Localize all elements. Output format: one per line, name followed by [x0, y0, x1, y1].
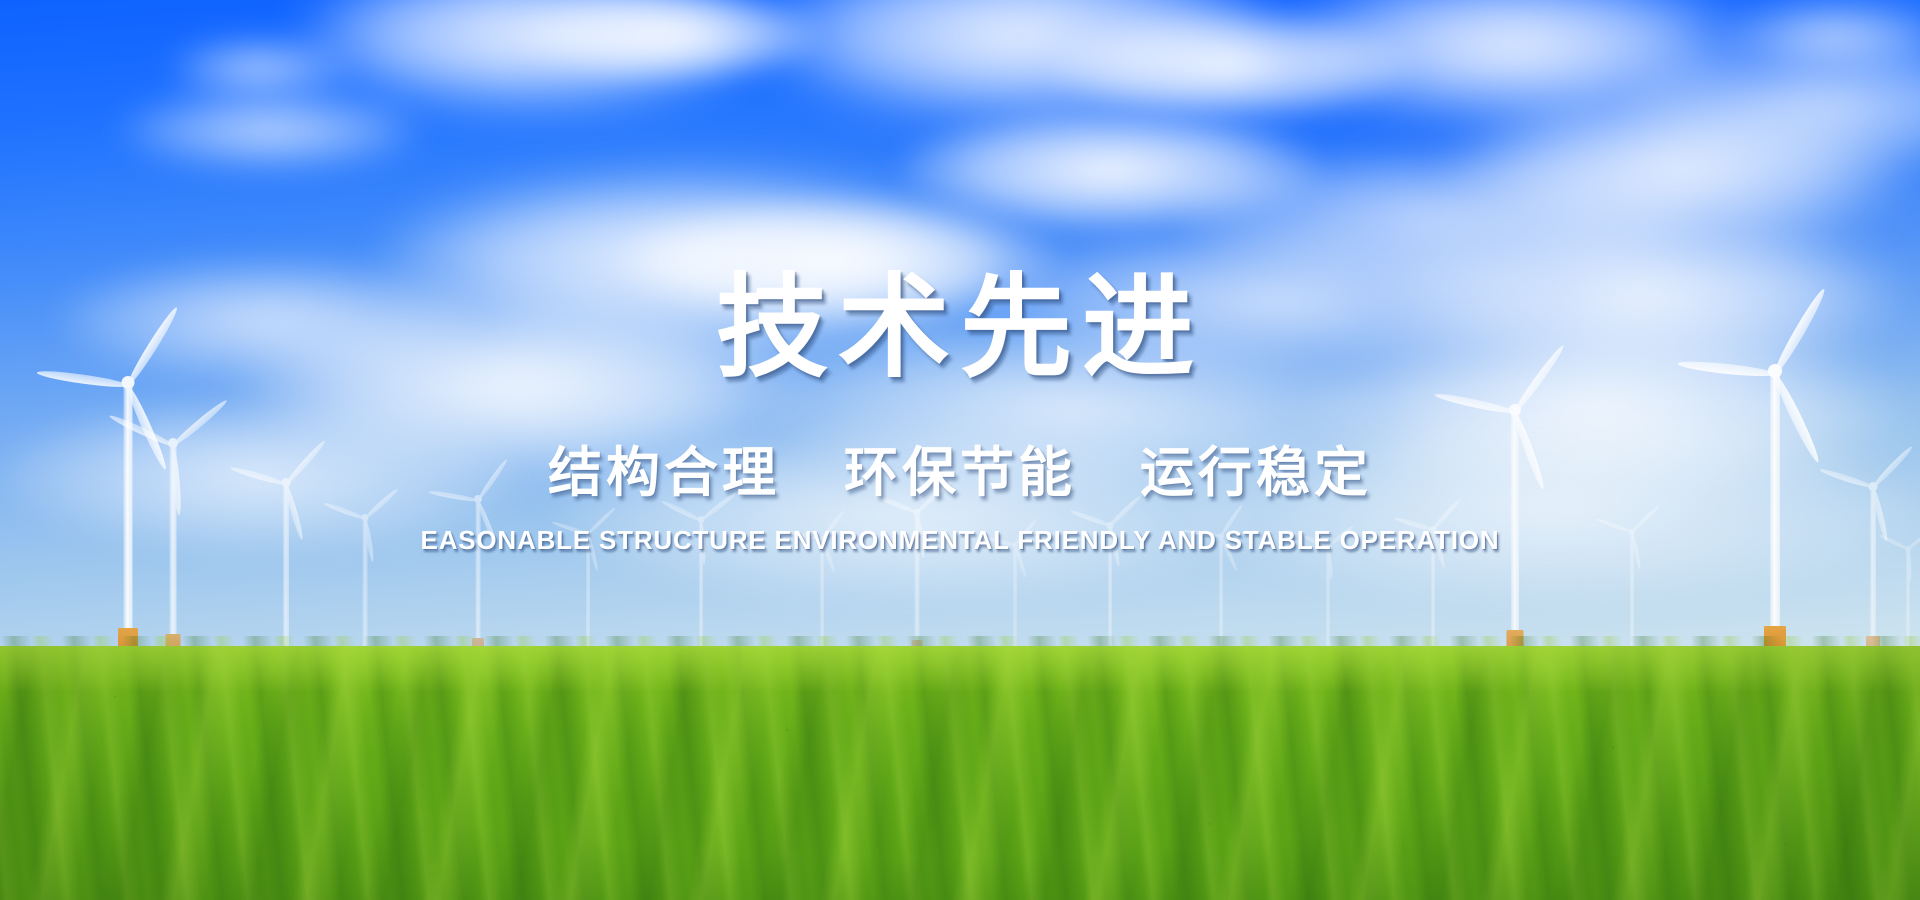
wind-turbine: [330, 502, 400, 652]
grass-vignette: [0, 646, 1920, 900]
banner-english-caption: EASONABLE STRUCTURE ENVIRONMENTAL FRIEND…: [0, 527, 1920, 553]
subheadline-part-3: 运行稳定: [1140, 443, 1372, 503]
banner-headline: 技术先进: [0, 272, 1920, 384]
grass-field: [0, 646, 1920, 900]
wind-turbine: [880, 496, 954, 652]
wind-turbine: [1880, 536, 1920, 652]
hero-banner: 技术先进 结构合理 环保节能 运行稳定 EASONABLE STRUCTURE …: [0, 0, 1920, 900]
banner-subheadline: 结构合理 环保节能 运行稳定: [0, 446, 1920, 500]
subheadline-part-2: 环保节能: [844, 443, 1076, 503]
wind-turbine: [1455, 384, 1575, 652]
wind-turbine: [438, 482, 518, 652]
subheadline-part-1: 结构合理: [548, 443, 780, 503]
